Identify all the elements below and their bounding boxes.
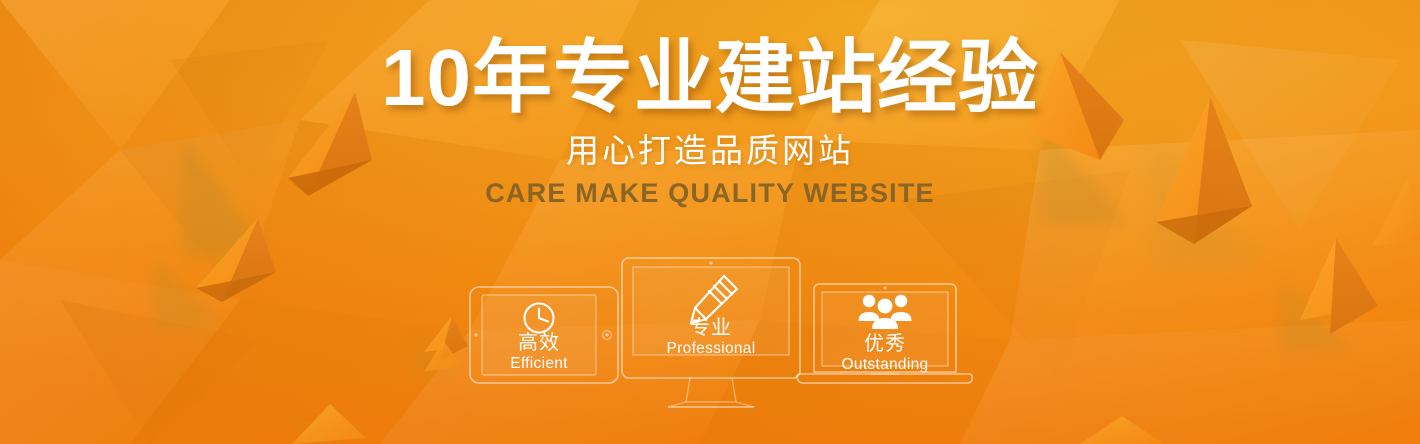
feature-card-laptop[interactable]: 优秀 Outstanding — [797, 284, 972, 383]
laptop-camera-dot — [884, 287, 887, 290]
feature-card-tablet[interactable]: 高效 Efficient — [470, 287, 618, 383]
monitor-label-cn: 专业 — [690, 316, 732, 339]
laptop-base — [797, 374, 972, 383]
tablet-home-button-inner — [605, 333, 608, 336]
feature-card-monitor[interactable]: 专业 Professional — [622, 258, 800, 407]
monitor-label-en: Professional — [667, 340, 756, 357]
tablet-label-en: Efficient — [510, 355, 568, 372]
tablet-camera-dot — [474, 333, 477, 336]
laptop-label-cn: 优秀 — [864, 332, 906, 355]
tablet-label-cn: 高效 — [518, 331, 560, 354]
hero-banner: 10年专业建站经验 用心打造品质网站 CARE MAKE QUALITY WEB… — [0, 0, 1420, 444]
feature-device-group: 高效 Efficient 专业 — [0, 250, 1420, 444]
monitor-camera-dot — [709, 261, 712, 264]
laptop-label-en: Outstanding — [842, 356, 929, 373]
monitor-stand-neck — [686, 378, 736, 402]
